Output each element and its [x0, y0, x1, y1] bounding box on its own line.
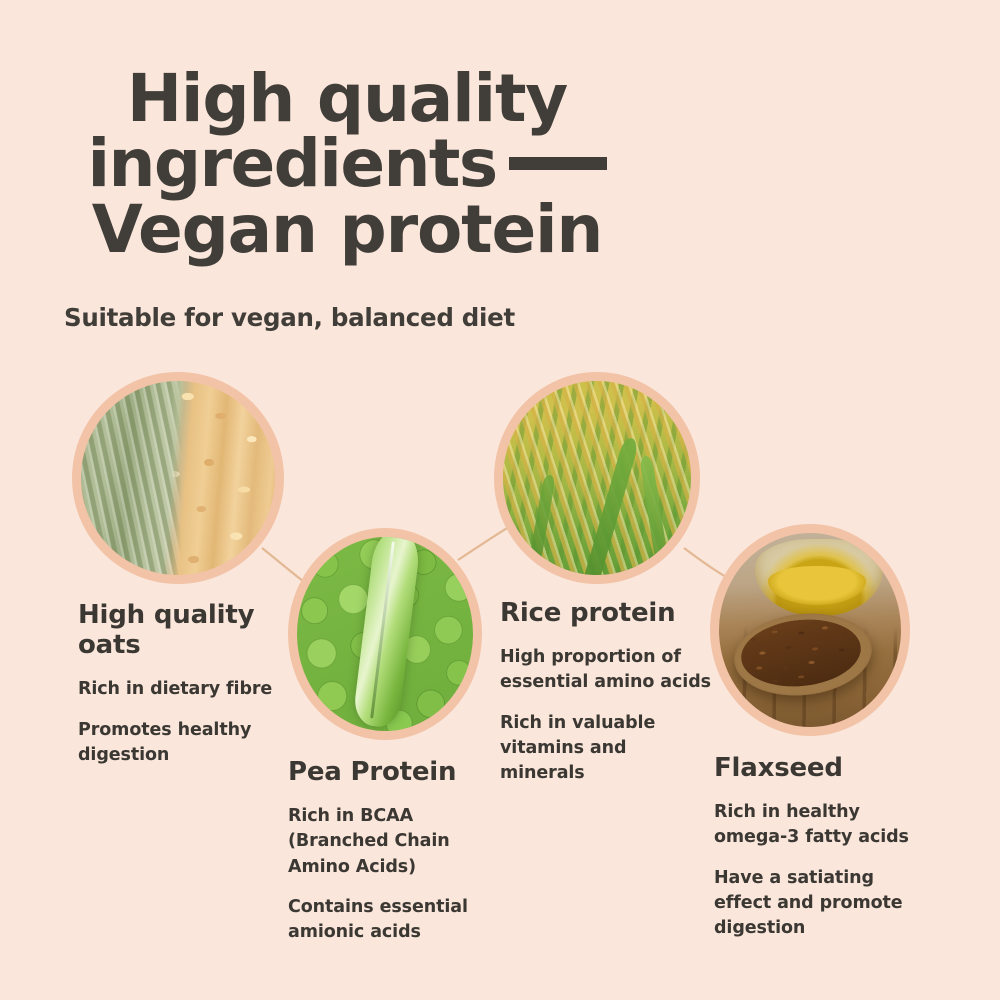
infographic-poster: High quality ingredients Vegan protein S…: [0, 0, 1000, 1000]
ingredient-image-rice: [494, 372, 700, 584]
ingredient-text-flaxseed: Flaxseed Rich in healthy omega-3 fatty a…: [714, 753, 919, 941]
headline-line-2: ingredients: [62, 131, 632, 196]
ingredient-text-oats: High quality oats Rich in dietary fibre …: [78, 600, 293, 768]
peas-photo: [297, 537, 473, 731]
page-subtitle: Suitable for vegan, balanced diet: [64, 303, 515, 332]
em-dash-icon: [509, 157, 607, 170]
ingredient-bullet-rice-2: Rich in valuable vitamins and minerals: [500, 711, 715, 787]
ingredient-title-rice: Rice protein: [500, 598, 715, 628]
ingredient-image-oats: [72, 372, 284, 584]
ingredient-bullet-oats-1: Rich in dietary fibre: [78, 677, 293, 702]
ingredient-bullet-flaxseed-2: Have a satiating effect and promote dige…: [714, 866, 919, 942]
ingredient-image-pea: [288, 528, 482, 740]
oats-flakes-layer: [81, 381, 275, 575]
ingredient-text-pea: Pea Protein Rich in BCAA (Branched Chain…: [288, 757, 493, 945]
ingredient-title-oats: High quality oats: [78, 600, 293, 660]
ingredient-bullet-flaxseed-1: Rich in healthy omega-3 fatty acids: [714, 800, 919, 850]
ingredient-title-flaxseed: Flaxseed: [714, 753, 919, 783]
headline-line-3: Vegan protein: [62, 197, 632, 262]
ingredient-bullet-pea-2: Contains essential amionic acids: [288, 895, 493, 945]
page-title: High quality ingredients Vegan protein: [62, 66, 632, 262]
header-block: High quality ingredients Vegan protein: [62, 66, 632, 262]
ingredient-bullet-pea-1: Rich in BCAA (Branched Chain Amino Acids…: [288, 804, 493, 880]
ingredient-title-pea: Pea Protein: [288, 757, 493, 787]
headline-line-1: High quality: [62, 66, 632, 131]
flaxseed-photo: [719, 533, 901, 727]
ingredient-bullet-oats-2: Promotes healthy digestion: [78, 718, 293, 768]
oats-photo: [81, 381, 275, 575]
ingredient-image-flaxseed: [710, 524, 910, 736]
ingredient-text-rice: Rice protein High proportion of essentia…: [500, 598, 715, 786]
rice-photo: [503, 381, 691, 575]
ingredient-bullet-rice-1: High proportion of essential amino acids: [500, 645, 715, 695]
